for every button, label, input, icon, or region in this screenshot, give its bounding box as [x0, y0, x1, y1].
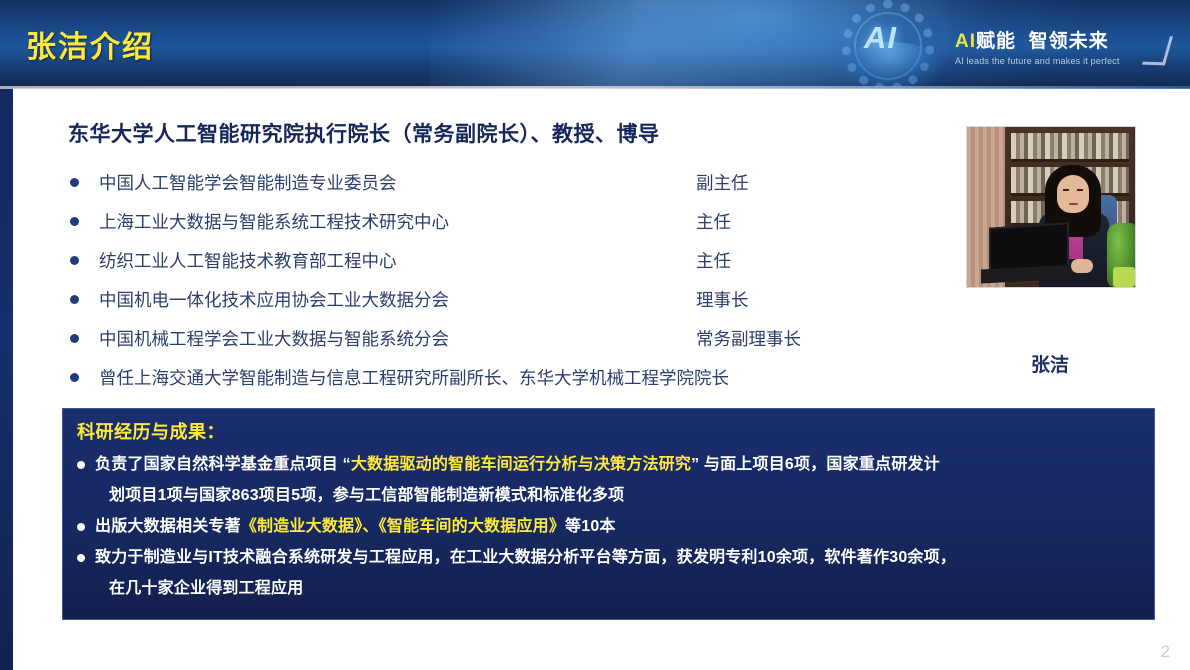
photo-shelf: [1011, 133, 1129, 162]
credential-org: 纺织工业人工智能技术教育部工程中心: [99, 248, 397, 273]
brand-headline: AI赋能 智领未来: [955, 26, 1175, 53]
credential-org: 曾任上海交通大学智能制造与信息工程研究所副所长、东华大学机械工程学院院长: [99, 365, 729, 390]
credential-role: 副主任: [696, 170, 749, 195]
achievement-text-post: ” 与面上项目6项，国家重点研发计: [691, 456, 940, 473]
bullet-icon: [70, 373, 79, 382]
list-item: 中国人工智能学会智能制造专业委员会 副主任: [70, 163, 950, 202]
list-item: 上海工业大数据与智能系统工程技术研究中心 主任: [70, 202, 950, 241]
credential-org: 中国机电一体化技术应用协会工业大数据分会: [99, 287, 449, 312]
bullet-icon: [70, 256, 79, 265]
brand-ai-text: AI: [955, 31, 976, 52]
photo-person-face: [1057, 175, 1089, 213]
header-underline-divider: [0, 86, 1190, 89]
achievement-item: 负责了国家自然科学基金重点项目 “大数据驱动的智能车间运行分析与决策方法研究” …: [75, 449, 1145, 511]
list-item: 中国机电一体化技术应用协会工业大数据分会 理事长: [70, 280, 950, 319]
achievement-text-line2: 在几十家企业得到工程应用: [95, 573, 1145, 604]
list-item: 曾任上海交通大学智能制造与信息工程研究所副所长、东华大学机械工程学院院长: [70, 358, 950, 397]
bullet-icon: [70, 334, 79, 343]
achievements-list: 负责了国家自然科学基金重点项目 “大数据驱动的智能车间运行分析与决策方法研究” …: [75, 449, 1145, 604]
photo-caption: 张洁: [966, 350, 1134, 377]
bullet-icon: [77, 523, 85, 531]
ai-globe-label: AI: [864, 20, 897, 56]
credential-role: 常务副理事长: [696, 326, 801, 351]
achievement-text-line2: 划项目1项与国家863项目5项，参与工信部智能制造新模式和标准化多项: [95, 480, 1145, 511]
brand-cn-text-1: 赋能: [976, 31, 1016, 52]
bullet-icon: [70, 217, 79, 226]
bullet-icon: [77, 554, 85, 562]
credential-role: 主任: [696, 248, 731, 273]
left-rail-decoration: [0, 0, 13, 670]
achievements-panel: 科研经历与成果： 负责了国家自然科学基金重点项目 “大数据驱动的智能车间运行分析…: [62, 408, 1155, 620]
photo-person-hand: [1071, 259, 1093, 273]
page-number: 2: [1161, 642, 1170, 662]
credential-role: 理事长: [696, 287, 749, 312]
achievement-text-pre: 致力于制造业与IT技术融合系统研发与工程应用，在工业大数据分析平台等方面，获发明…: [95, 549, 956, 566]
portrait-photo: [966, 126, 1136, 288]
achievement-item: 致力于制造业与IT技术融合系统研发与工程应用，在工业大数据分析平台等方面，获发明…: [75, 542, 1145, 604]
achievements-panel-title: 科研经历与成果：: [77, 418, 225, 444]
credentials-list: 中国人工智能学会智能制造专业委员会 副主任 上海工业大数据与智能系统工程技术研究…: [70, 163, 950, 397]
lead-heading: 东华大学人工智能研究院执行院长（常务副院长）、教授、博导: [68, 118, 660, 148]
list-item: 中国机械工程学会工业大数据与智能系统分会 常务副理事长: [70, 319, 950, 358]
achievement-highlight: 《制造业大数据》、《智能车间的大数据应用》: [241, 518, 565, 535]
slide-canvas: AI AI赋能 智领未来 AI leads the future and mak…: [0, 0, 1190, 670]
bullet-icon: [70, 178, 79, 187]
bullet-icon: [77, 461, 85, 469]
credential-org: 中国机械工程学会工业大数据与智能系统分会: [99, 326, 449, 351]
page-title: 张洁介绍: [26, 22, 154, 66]
bullet-icon: [70, 295, 79, 304]
photo-person-mouth: [1069, 203, 1078, 205]
achievement-text-post: 等10本: [565, 518, 616, 535]
brand-lockup: AI赋能 智领未来 AI leads the future and makes …: [955, 26, 1175, 66]
photo-person-eye-left: [1063, 189, 1069, 191]
credential-org: 中国人工智能学会智能制造专业委员会: [99, 170, 397, 195]
photo-plant-pot: [1113, 267, 1135, 287]
list-item: 纺织工业人工智能技术教育部工程中心 主任: [70, 241, 950, 280]
credential-role: 主任: [696, 209, 731, 234]
achievement-text-pre: 出版大数据相关专著: [95, 518, 241, 535]
credential-org: 上海工业大数据与智能系统工程技术研究中心: [99, 209, 449, 234]
achievement-item: 出版大数据相关专著《制造业大数据》、《智能车间的大数据应用》等10本: [75, 511, 1145, 542]
achievement-highlight: 大数据驱动的智能车间运行分析与决策方法研究: [351, 456, 691, 473]
ai-globe-icon: AI: [820, 0, 970, 88]
achievement-text-pre: 负责了国家自然科学基金重点项目 “: [95, 456, 351, 473]
slide-header: AI AI赋能 智领未来 AI leads the future and mak…: [0, 0, 1190, 88]
brand-cn-text-2: 智领未来: [1029, 31, 1109, 52]
photo-person-eye-right: [1077, 189, 1083, 191]
